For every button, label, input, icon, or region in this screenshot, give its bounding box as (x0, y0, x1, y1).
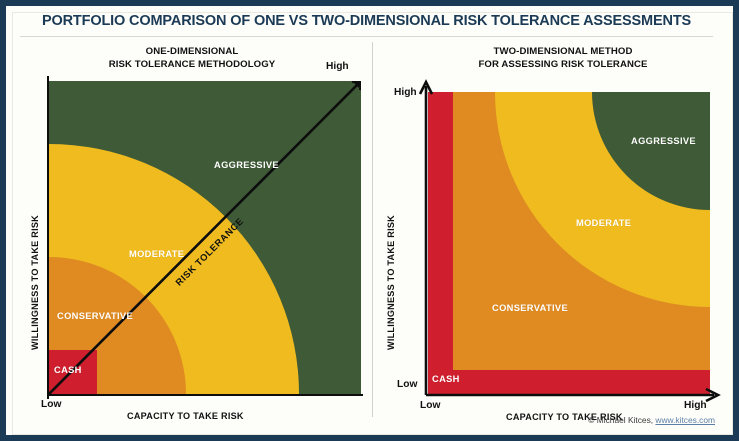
label-cash-left: CASH (54, 365, 82, 375)
left-heading-line1: ONE-DIMENSIONAL (146, 46, 239, 57)
risk-tolerance-arrow-svg (49, 81, 361, 394)
left-x-axis-title: CAPACITY TO TAKE RISK (127, 411, 244, 421)
right-x-high-label: High (684, 400, 707, 411)
footer-website-link[interactable]: www.kitces.com (655, 415, 715, 425)
left-x-axis (47, 394, 363, 396)
page-title: PORTFOLIO COMPARISON OF ONE VS TWO-DIMEN… (42, 13, 691, 29)
left-chart-plot: AGGRESSIVE MODERATE CONSERVATIVE CASH RI… (49, 81, 361, 394)
footer-credit: © Michael Kitces, www.kitces.com (588, 415, 715, 425)
label-aggressive-left: AGGRESSIVE (214, 160, 279, 170)
risk-tolerance-line (49, 81, 361, 394)
left-x-low-label: Low (41, 399, 61, 410)
label-moderate-left: MODERATE (129, 249, 184, 259)
left-diagonal-high-label: High (326, 61, 349, 72)
left-heading-line2: RISK TOLERANCE METHODOLOGY (109, 59, 276, 70)
right-y-axis-title: WILLINGNESS TO TAKE RISK (386, 215, 396, 350)
right-y-low-label: Low (397, 379, 417, 390)
label-conservative-left: CONSERVATIVE (57, 311, 133, 321)
right-y-high-label: High (394, 87, 417, 98)
title-bar: PORTFOLIO COMPARISON OF ONE VS TWO-DIMEN… (6, 12, 727, 30)
infographic-root: PORTFOLIO COMPARISON OF ONE VS TWO-DIMEN… (0, 0, 739, 441)
left-y-axis-title: WILLINGNESS TO TAKE RISK (30, 215, 40, 350)
footer-copyright: © Michael Kitces, (588, 415, 655, 425)
panel-one-dimensional: ONE-DIMENSIONAL RISK TOLERANCE METHODOLO… (8, 38, 371, 421)
title-divider (20, 36, 713, 37)
right-x-low-label: Low (420, 400, 440, 411)
left-panel-heading: ONE-DIMENSIONAL RISK TOLERANCE METHODOLO… (8, 46, 348, 71)
left-y-axis (47, 76, 49, 399)
right-axes-svg (373, 38, 725, 421)
panel-two-dimensional: TWO-DIMENSIONAL METHOD FOR ASSESSING RIS… (373, 38, 725, 421)
